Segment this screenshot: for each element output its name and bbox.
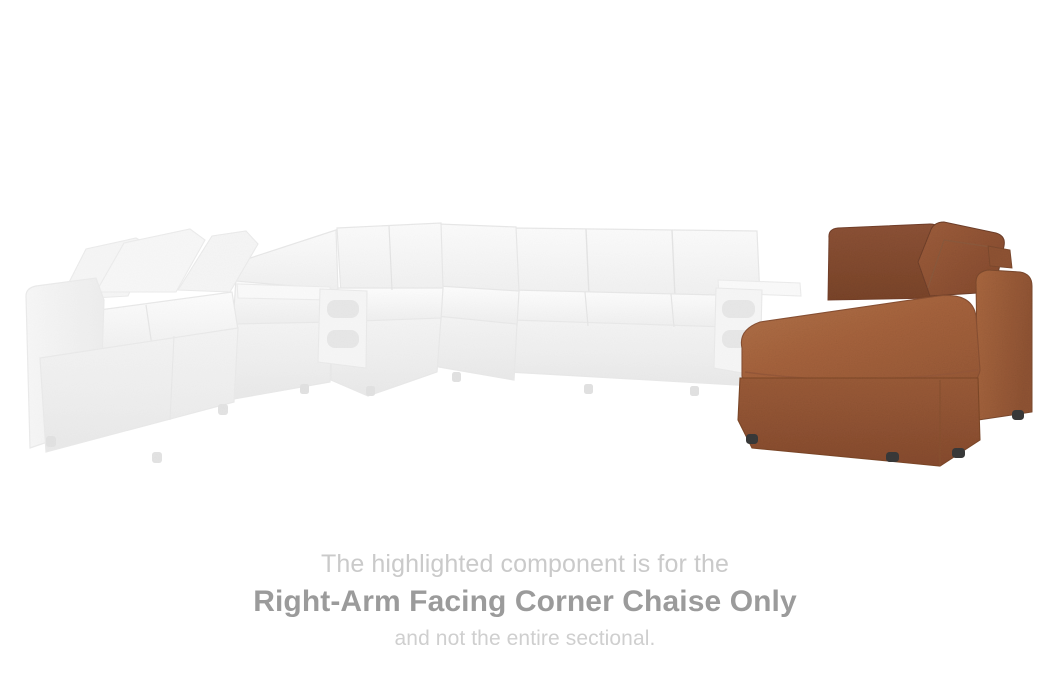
foot	[300, 384, 309, 394]
left-base	[228, 322, 332, 400]
foot	[746, 434, 758, 444]
foot	[218, 404, 228, 415]
foot	[366, 386, 375, 396]
caption-block: The highlighted component is for the Rig…	[0, 548, 1050, 653]
base-center	[433, 316, 517, 380]
caption-component-name: Right-Arm Facing Corner Chaise Only	[0, 583, 1050, 621]
left-arm-facing-loveseat	[26, 229, 258, 463]
caption-line-disclaimer: and not the entire sectional.	[0, 625, 1050, 653]
foot	[152, 452, 162, 463]
faded-sectional-group	[26, 223, 801, 463]
foot	[886, 452, 899, 462]
cupholder-icon	[327, 330, 359, 348]
cupholder-icon	[722, 300, 755, 318]
back-cushion-center	[438, 224, 519, 292]
chaise-arm-shoulder	[988, 246, 1012, 268]
foot	[690, 386, 699, 396]
armless-chair-center	[433, 224, 519, 382]
foot	[1012, 410, 1024, 420]
chaise-right-arm	[976, 270, 1032, 420]
console-top	[237, 284, 331, 300]
product-highlight-screen: The highlighted component is for the Rig…	[0, 0, 1050, 700]
foot	[452, 372, 461, 382]
cupholder-icon	[327, 300, 359, 318]
caption-line-primary: The highlighted component is for the	[0, 548, 1050, 580]
foot	[584, 384, 593, 394]
sectional-svg	[0, 0, 1050, 530]
foot	[46, 436, 56, 447]
chaise-base	[738, 378, 980, 466]
right-arm-facing-corner-chaise	[738, 222, 1032, 466]
foot	[952, 448, 965, 458]
sectional-illustration	[0, 0, 1050, 530]
